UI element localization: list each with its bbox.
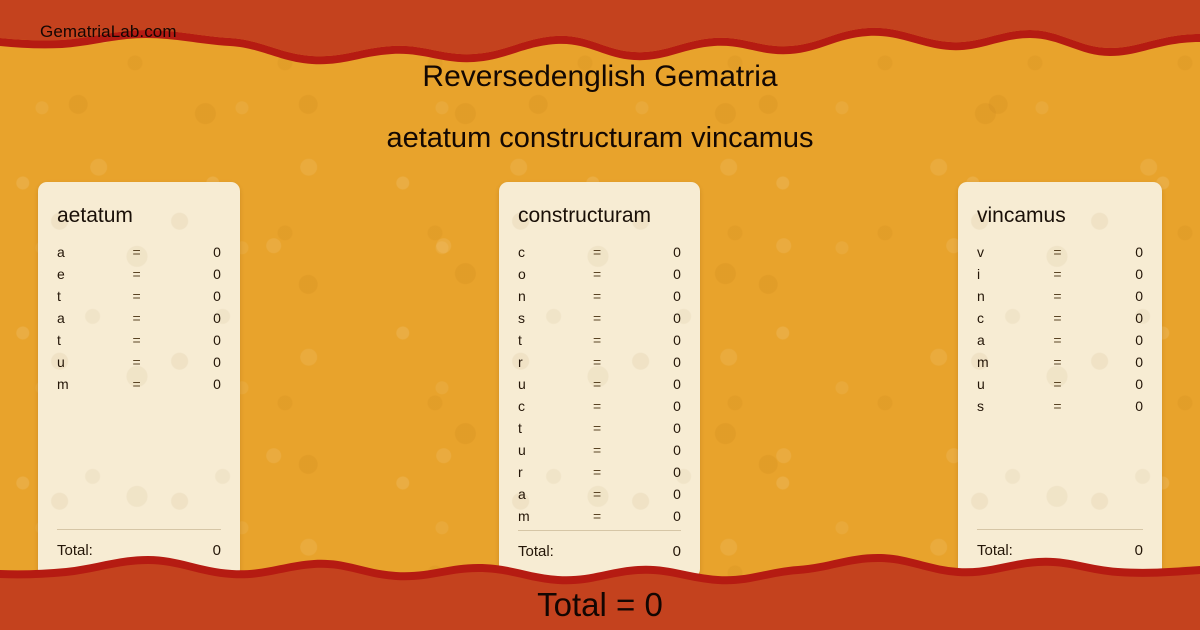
equals-sign: = — [132, 244, 175, 260]
equals-sign: = — [132, 332, 175, 348]
letter-value: 0 — [175, 266, 221, 282]
letter-row: m = 0 — [518, 508, 681, 530]
equals-sign: = — [593, 398, 635, 414]
letter-row: m = 0 — [57, 376, 221, 398]
letter-row: o = 0 — [518, 266, 681, 288]
word-card: aetatum a = 0 e = 0 t = 0 a — [38, 182, 240, 578]
letter-label: s — [977, 398, 1053, 414]
letter-label: u — [518, 442, 593, 458]
top-torn-band — [0, 0, 1200, 70]
letter-row: i = 0 — [977, 266, 1143, 288]
letter-label: i — [977, 266, 1053, 282]
letter-rows: c = 0 o = 0 n = 0 s = 0 — [518, 244, 681, 530]
letter-row: c = 0 — [518, 244, 681, 266]
letter-label: u — [977, 376, 1053, 392]
equals-sign: = — [593, 464, 635, 480]
letter-label: t — [518, 332, 593, 348]
letter-row: s = 0 — [977, 398, 1143, 420]
letter-value: 0 — [635, 464, 681, 480]
letter-value: 0 — [1097, 376, 1143, 392]
letter-label: a — [977, 332, 1053, 348]
letter-value: 0 — [1097, 244, 1143, 260]
letter-value: 0 — [635, 508, 681, 524]
letter-value: 0 — [635, 310, 681, 326]
equals-sign: = — [593, 486, 635, 502]
letter-value: 0 — [635, 420, 681, 436]
letter-row: r = 0 — [518, 354, 681, 376]
letter-label: u — [57, 354, 132, 370]
equals-sign: = — [132, 354, 175, 370]
equals-sign: = — [593, 266, 635, 282]
equals-sign: = — [1053, 266, 1096, 282]
equals-sign: = — [1053, 288, 1096, 304]
letter-value: 0 — [635, 288, 681, 304]
letter-row: m = 0 — [977, 354, 1143, 376]
equals-sign: = — [132, 376, 175, 392]
letter-row: u = 0 — [518, 442, 681, 464]
letter-rows: v = 0 i = 0 n = 0 c = 0 — [977, 244, 1143, 529]
letter-label: a — [57, 244, 132, 260]
letter-value: 0 — [1097, 354, 1143, 370]
equals-sign: = — [593, 244, 635, 260]
letter-row: r = 0 — [518, 464, 681, 486]
equals-sign: = — [593, 508, 635, 524]
letter-value: 0 — [1097, 310, 1143, 326]
equals-sign: = — [593, 310, 635, 326]
letter-label: s — [518, 310, 593, 326]
letter-value: 0 — [1097, 266, 1143, 282]
letter-value: 0 — [635, 332, 681, 348]
letter-label: n — [518, 288, 593, 304]
letter-value: 0 — [1097, 288, 1143, 304]
site-name-watermark: GematriaLab.com — [40, 22, 177, 42]
card-divider — [977, 529, 1143, 530]
letter-value: 0 — [635, 266, 681, 282]
letter-row: v = 0 — [977, 244, 1143, 266]
letter-row: u = 0 — [57, 354, 221, 376]
equals-sign: = — [1053, 376, 1096, 392]
letter-row: t = 0 — [57, 332, 221, 354]
letter-value: 0 — [635, 354, 681, 370]
equals-sign: = — [132, 310, 175, 326]
letter-value: 0 — [635, 486, 681, 502]
card-divider — [518, 530, 681, 531]
letter-value: 0 — [175, 310, 221, 326]
letter-label: o — [518, 266, 593, 282]
letter-label: t — [57, 332, 132, 348]
letter-row: t = 0 — [518, 420, 681, 442]
letter-label: a — [518, 486, 593, 502]
letter-row: a = 0 — [57, 310, 221, 332]
letter-rows: a = 0 e = 0 t = 0 a = 0 — [57, 244, 221, 529]
letter-label: m — [518, 508, 593, 524]
letter-value: 0 — [635, 244, 681, 260]
equals-sign: = — [593, 354, 635, 370]
letter-row: e = 0 — [57, 266, 221, 288]
letter-label: r — [518, 464, 593, 480]
letter-value: 0 — [635, 398, 681, 414]
equals-sign: = — [1053, 332, 1096, 348]
letter-row: a = 0 — [57, 244, 221, 266]
equals-sign: = — [593, 376, 635, 392]
letter-row: c = 0 — [518, 398, 681, 420]
letter-row: u = 0 — [977, 376, 1143, 398]
equals-sign: = — [1053, 244, 1096, 260]
letter-row: a = 0 — [518, 486, 681, 508]
letter-row: t = 0 — [518, 332, 681, 354]
word-card: vincamus v = 0 i = 0 n = 0 c — [958, 182, 1162, 578]
letter-value: 0 — [175, 332, 221, 348]
letter-label: t — [57, 288, 132, 304]
letter-label: r — [518, 354, 593, 370]
letter-label: v — [977, 244, 1053, 260]
letter-value: 0 — [175, 244, 221, 260]
letter-label: e — [57, 266, 132, 282]
equals-sign: = — [132, 288, 175, 304]
letter-label: u — [518, 376, 593, 392]
letter-label: m — [977, 354, 1053, 370]
letter-value: 0 — [175, 288, 221, 304]
letter-value: 0 — [635, 442, 681, 458]
card-divider — [57, 529, 221, 530]
letter-row: n = 0 — [518, 288, 681, 310]
letter-row: t = 0 — [57, 288, 221, 310]
letter-row: n = 0 — [977, 288, 1143, 310]
letter-value: 0 — [1097, 398, 1143, 414]
word-card: constructuram c = 0 o = 0 n = 0 — [499, 182, 700, 578]
equals-sign: = — [1053, 354, 1096, 370]
letter-value: 0 — [175, 376, 221, 392]
grand-total: Total = 0 — [0, 586, 1200, 624]
equals-sign: = — [1053, 398, 1096, 414]
equals-sign: = — [132, 266, 175, 282]
equals-sign: = — [593, 332, 635, 348]
letter-row: c = 0 — [977, 310, 1143, 332]
letter-row: s = 0 — [518, 310, 681, 332]
letter-label: c — [977, 310, 1053, 326]
word-cards-container: aetatum a = 0 e = 0 t = 0 a — [0, 0, 1200, 630]
letter-label: c — [518, 244, 593, 260]
letter-value: 0 — [1097, 332, 1143, 348]
equals-sign: = — [593, 442, 635, 458]
letter-row: a = 0 — [977, 332, 1143, 354]
letter-value: 0 — [635, 376, 681, 392]
equals-sign: = — [593, 288, 635, 304]
card-word-title: aetatum — [57, 204, 221, 228]
letter-label: c — [518, 398, 593, 414]
letter-label: a — [57, 310, 132, 326]
letter-label: n — [977, 288, 1053, 304]
equals-sign: = — [593, 420, 635, 436]
card-word-title: vincamus — [977, 204, 1143, 228]
equals-sign: = — [1053, 310, 1096, 326]
letter-value: 0 — [175, 354, 221, 370]
letter-label: t — [518, 420, 593, 436]
letter-label: m — [57, 376, 132, 392]
letter-row: u = 0 — [518, 376, 681, 398]
card-word-title: constructuram — [518, 204, 681, 228]
gematria-result-image: GematriaLab.com Reversedenglish Gematria… — [0, 0, 1200, 630]
